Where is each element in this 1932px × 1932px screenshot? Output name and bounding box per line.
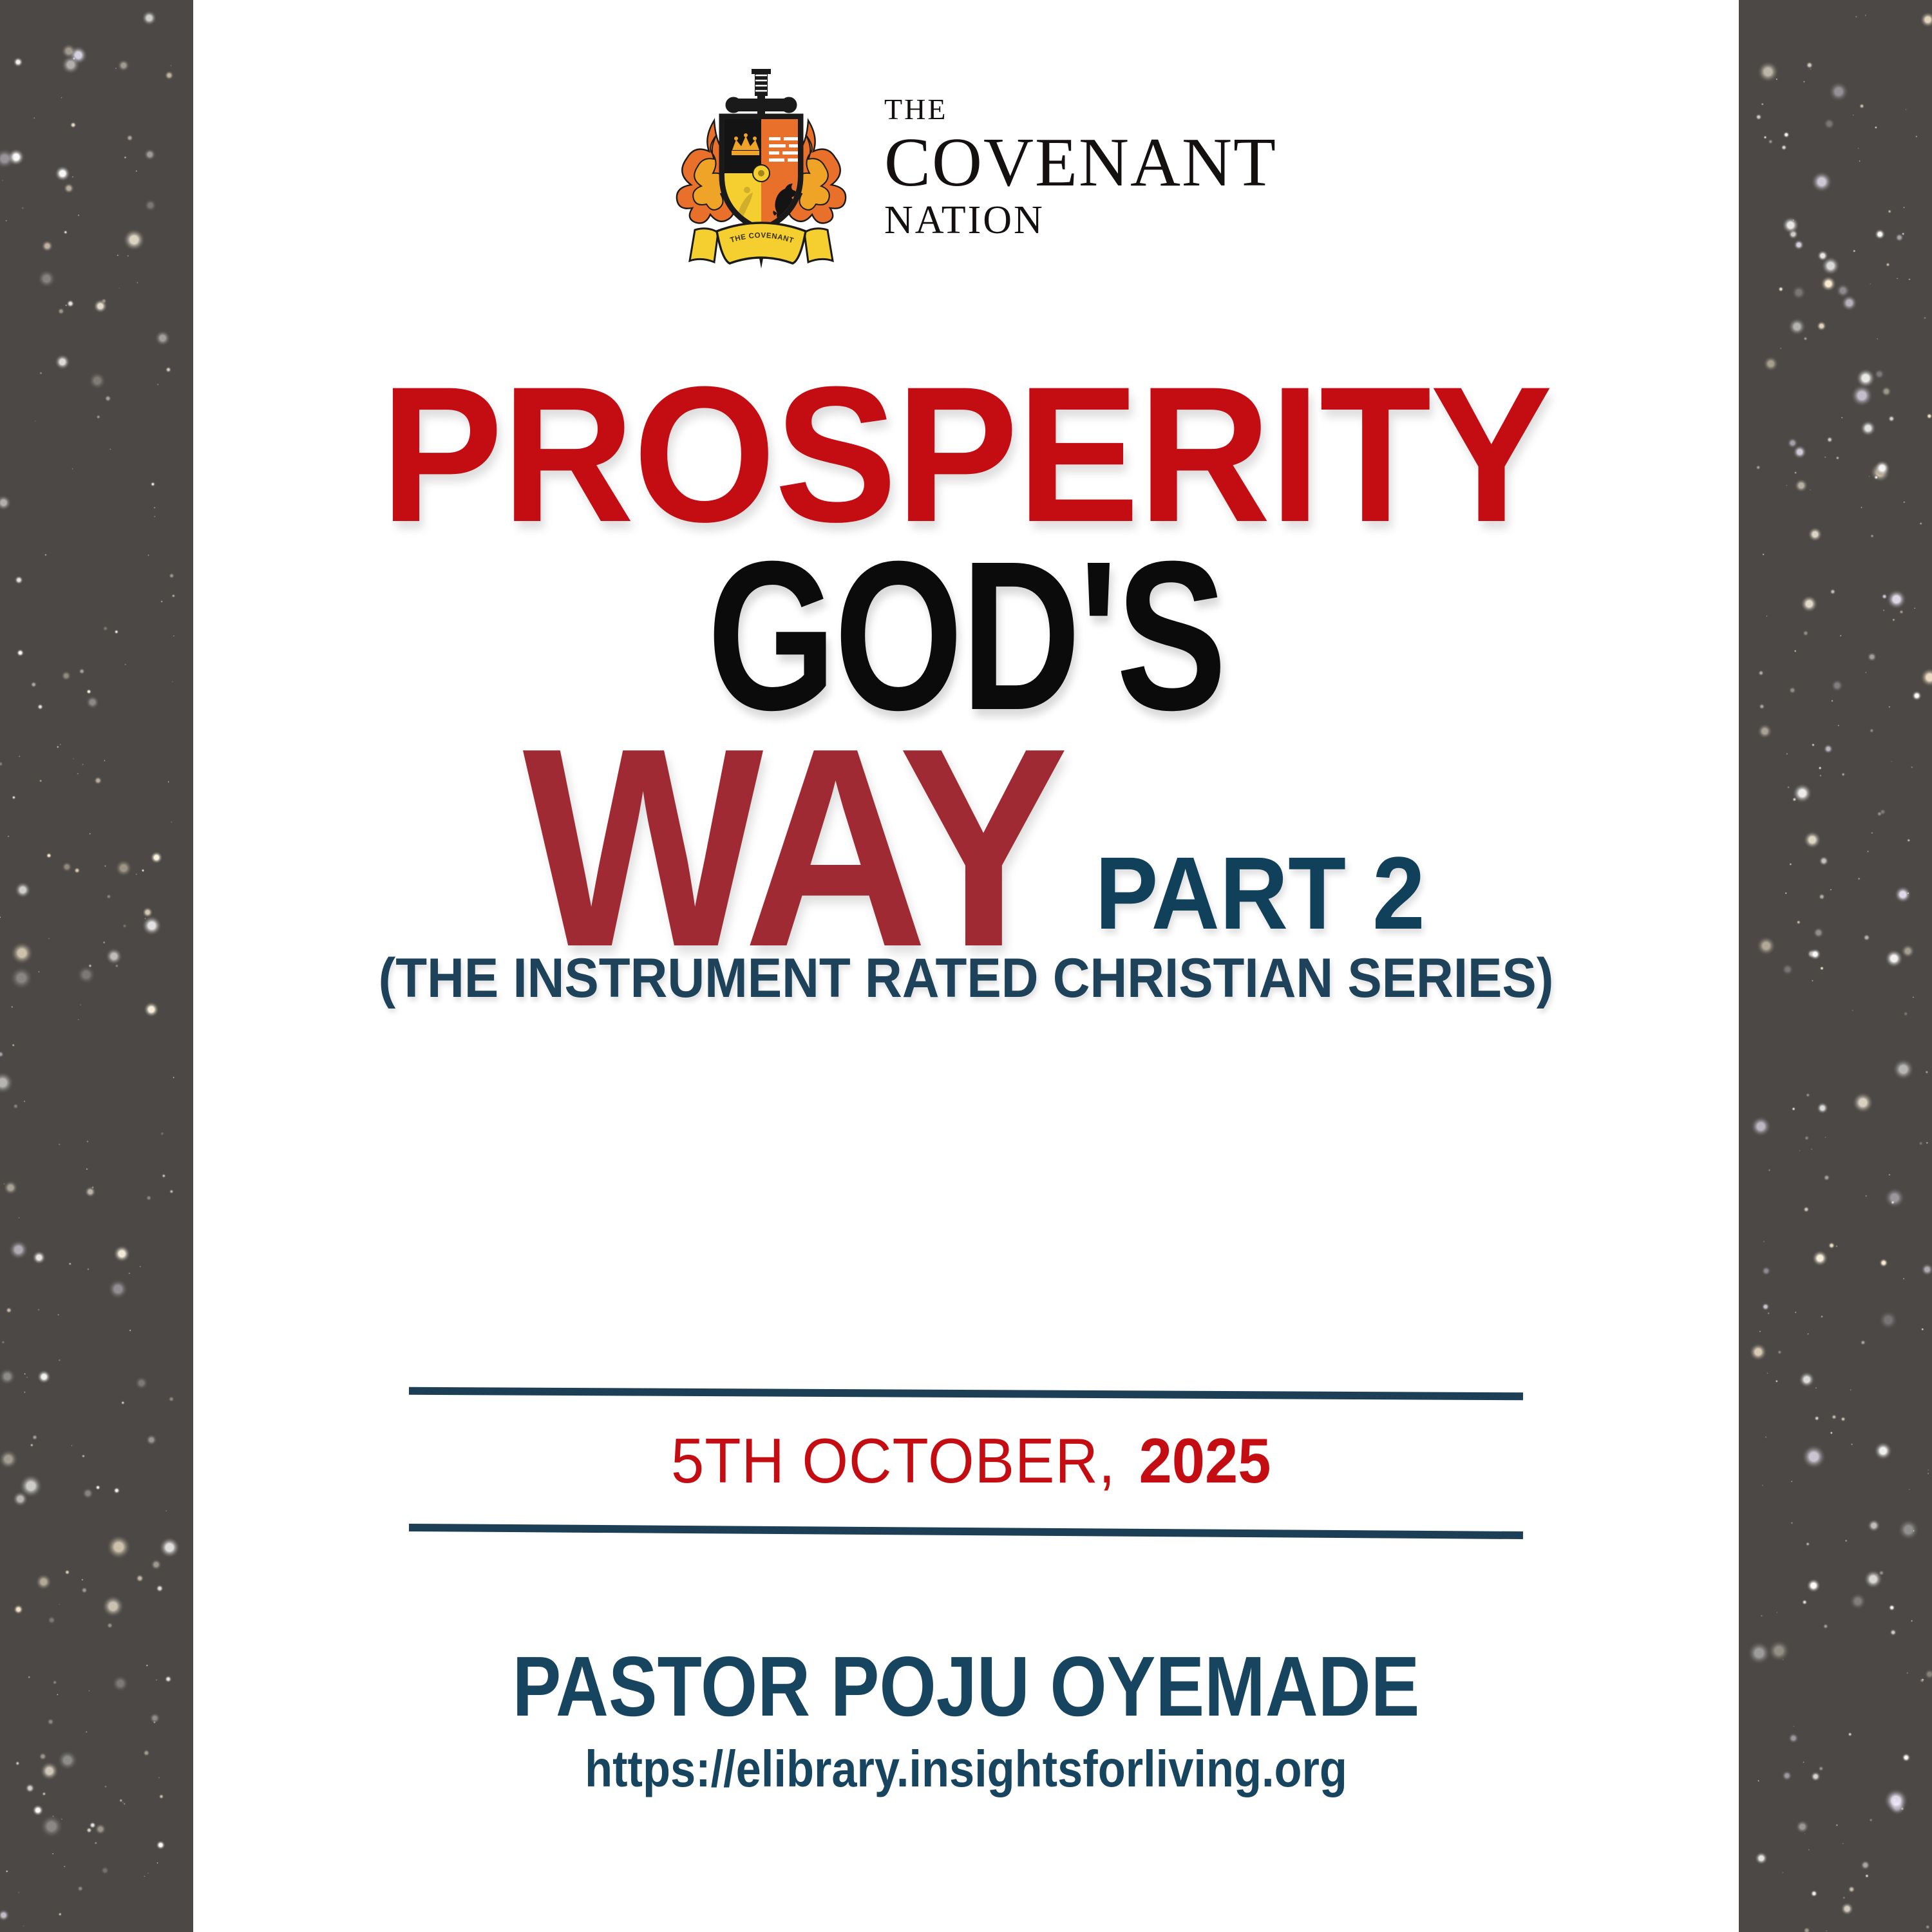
speaker-url[interactable]: https://elibrary.insightsforliving.org xyxy=(286,1743,1646,1795)
headline-line-way: WAY xyxy=(522,735,1063,961)
event-date-daymonth: 5TH OCTOBER, xyxy=(671,1425,1115,1497)
date-rule-top xyxy=(409,1387,1523,1400)
brand-wordmark: THE COVENANT NATION xyxy=(884,95,1277,240)
covenant-nation-crest-icon: THE COVENANT NATION xyxy=(655,61,867,274)
headline-line-prosperity: PROSPERITY xyxy=(232,377,1700,531)
event-date-year: 2025 xyxy=(1139,1425,1271,1497)
wordmark-covenant: COVENANT xyxy=(884,128,1277,198)
headline-part-label: PART 2 xyxy=(1095,852,1426,934)
speaker-name: PASTOR POJU OYEMADE xyxy=(301,1644,1631,1729)
brand-logo: THE COVENANT NATION THE COVENANT NATION xyxy=(193,61,1739,274)
wordmark-the: THE xyxy=(884,95,947,124)
headline-series-subtitle: (THE INSTRUMENT RATED CHRISTIAN SERIES) xyxy=(247,956,1685,1001)
speaker-block: PASTOR POJU OYEMADE https://elibrary.ins… xyxy=(193,1644,1739,1795)
flyer-card: THE COVENANT NATION THE COVENANT NATION … xyxy=(193,0,1739,1932)
headline-stack: PROSPERITY GOD'S WAY PART 2 (THE INSTRUM… xyxy=(193,377,1739,1001)
headline-way-row: WAY PART 2 xyxy=(193,735,1739,961)
date-rule-bottom xyxy=(409,1524,1523,1539)
event-date: 5TH OCTOBER,2025 xyxy=(193,1425,1739,1497)
wordmark-nation: NATION xyxy=(884,200,1045,240)
